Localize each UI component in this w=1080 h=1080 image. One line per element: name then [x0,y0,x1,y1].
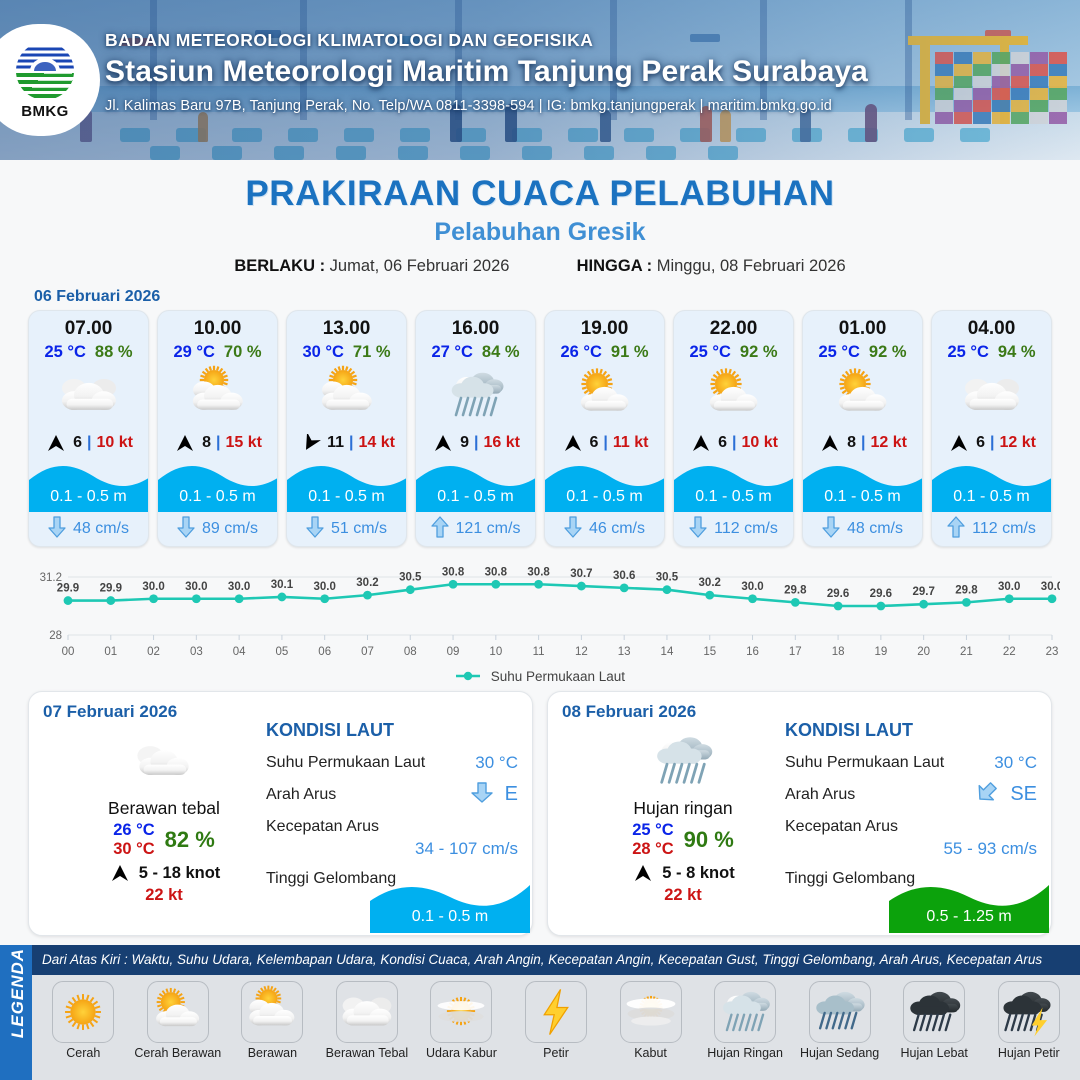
svg-text:30.0: 30.0 [142,581,164,593]
legend-icon-list: Cerah Cerah Berawan Berawan Berawan Teba… [32,975,1080,1080]
panel-sst-value: 30 °C [475,753,518,773]
svg-text:08: 08 [404,646,417,658]
panel-current-dir-label: Arah Arus [785,786,855,804]
card-wave-block: 0.1 - 0.5 m [932,460,1051,512]
card-temperature: 25 °C [44,343,85,362]
card-wind-direction: 6 [976,434,985,452]
card-weather-cloudy-icon [932,364,1051,426]
card-wind-direction: 6 [590,434,599,452]
svg-text:01: 01 [104,646,117,658]
card-time: 04.00 [932,311,1051,340]
card-current-speed: 121 cm/s [456,520,521,538]
legend-thunderstorm-icon [998,981,1060,1043]
panel-wind-row: 5 - 18 knot [69,864,259,883]
svg-text:07: 07 [361,646,374,658]
card-wind-direction: 6 [718,434,727,452]
svg-text:14: 14 [661,646,674,658]
svg-text:04: 04 [233,646,246,658]
chart-legend-label: Suhu Permukaan Laut [491,669,625,684]
valid-until-label: HINGGA : [577,257,652,275]
card-wind-separator: | [349,434,353,452]
wind-direction-arrow-icon [947,434,971,452]
svg-text:30.2: 30.2 [356,577,378,589]
legend-heavy-rain-icon [903,981,965,1043]
wind-direction-arrow-icon [631,864,655,882]
svg-text:30.0: 30.0 [998,581,1020,593]
page-subtitle: Pelabuhan Gresik [0,218,1080,247]
panel-sea-title: KONDISI LAUT [785,720,1037,741]
panel-sst-label: Suhu Permukaan Laut [266,754,425,772]
card-current-row: 112 cm/s [674,512,793,546]
legend-bar: LEGENDA Dari Atas Kiri : Waktu, Suhu Uda… [0,945,1080,1080]
current-direction-arrow-icon [822,516,840,543]
panel-weather-light-rain-icon [588,728,778,794]
panel-wave-block: 0.5 - 1.25 m [889,877,1049,933]
daily-forecast-panels: 07 Februari 2026 Berawan tebal26 °C30 °C… [0,685,1080,936]
card-wave-height: 0.1 - 0.5 m [803,488,922,506]
card-temp-humidity: 30 °C71 % [287,343,406,362]
svg-text:29.9: 29.9 [57,583,79,595]
chart-legend: Suhu Permukaan Laut [0,669,1080,685]
panel-current-speed-value: 34 - 107 cm/s [266,839,518,859]
card-wind-row: 11|14 kt [287,426,406,460]
panel-sst-label: Suhu Permukaan Laut [785,754,944,772]
card-temp-humidity: 25 °C94 % [932,343,1051,362]
hourly-card: 19.0026 °C91 % 6|11 kt0.1 - 0.5 m 46 cm/… [544,310,665,547]
card-humidity: 70 % [224,343,262,362]
panel-wind-row: 5 - 8 knot [588,864,778,883]
card-wind-speed: 14 kt [358,434,394,452]
svg-text:29.8: 29.8 [784,584,807,596]
agency-name: BADAN METEOROLOGI KLIMATOLOGI DAN GEOFIS… [105,30,1065,51]
svg-text:30.5: 30.5 [656,572,679,584]
svg-text:29.6: 29.6 [827,588,849,600]
panel-date: 07 Februari 2026 [43,702,518,722]
panel-weather-overcast-icon [69,728,259,794]
svg-text:29.8: 29.8 [955,584,978,596]
panel-temp-column: 26 °C30 °C [113,821,154,859]
legend-item: Cerah Berawan [131,981,226,1060]
svg-text:30.0: 30.0 [228,581,250,593]
svg-text:30.0: 30.0 [314,581,336,593]
legend-item-label: Hujan Petir [998,1046,1060,1060]
card-current-row: 89 cm/s [158,512,277,546]
card-humidity: 92 % [740,343,778,362]
card-current-speed: 48 cm/s [847,520,903,538]
svg-text:11: 11 [533,646,545,658]
page-title: PRAKIRAAN CUACA PELABUHAN [0,174,1080,214]
svg-text:23: 23 [1046,646,1059,658]
card-wind-separator: | [990,434,994,452]
header-text-block: BADAN METEOROLOGI KLIMATOLOGI DAN GEOFIS… [105,30,1065,114]
svg-text:13: 13 [618,646,631,658]
legend-item: Berawan [225,981,320,1060]
card-humidity: 94 % [998,343,1036,362]
legend-item-label: Kabut [634,1046,667,1060]
panel-temp-min: 26 °C [113,821,154,840]
current-direction-arrow-icon [177,516,195,543]
current-direction-arrow-icon [431,516,449,543]
hourly-date-row: 06 Februari 2026 [34,288,1080,306]
panel-current-speed-label: Kecepatan Arus [785,818,898,836]
hourly-card: 07.0025 °C88 % 6|10 kt0.1 - 0.5 m 48 cm/… [28,310,149,547]
card-wave-block: 0.1 - 0.5 m [416,460,535,512]
panel-date: 08 Februari 2026 [562,702,1037,722]
svg-text:05: 05 [276,646,289,658]
svg-text:20: 20 [917,646,930,658]
legend-item: Petir [509,981,604,1060]
current-direction-arrow-icon [947,516,965,543]
panel-wave-value: 0.5 - 1.25 m [889,908,1049,926]
card-time: 16.00 [416,311,535,340]
card-wave-height: 0.1 - 0.5 m [674,488,793,506]
card-wind-separator: | [861,434,865,452]
hourly-card: 04.0025 °C94 % 6|12 kt0.1 - 0.5 m 112 cm… [931,310,1052,547]
card-current-speed: 51 cm/s [331,520,387,538]
legend-item-label: Hujan Sedang [800,1046,879,1060]
panel-humidity: 90 % [684,827,734,853]
legend-item: Cerah [36,981,131,1060]
legend-item: Hujan Sedang [792,981,887,1060]
svg-text:30.8: 30.8 [527,566,550,578]
legend-note: Dari Atas Kiri : Waktu, Suhu Udara, Kele… [42,952,1074,967]
svg-text:18: 18 [832,646,845,658]
card-wave-block: 0.1 - 0.5 m [674,460,793,512]
wind-direction-arrow-icon [431,434,455,452]
card-time: 13.00 [287,311,406,340]
card-wind-row: 6|10 kt [29,426,148,460]
card-current-row: 112 cm/s [932,512,1051,546]
svg-text:30.8: 30.8 [485,566,508,578]
card-wind-direction: 8 [847,434,856,452]
panel-current-speed-value: 55 - 93 cm/s [785,839,1037,859]
wind-direction-arrow-icon [108,864,132,882]
valid-from: BERLAKU : Jumat, 06 Februari 2026 [234,257,509,276]
chart-legend-marker [455,670,481,685]
card-wind-direction: 11 [327,434,344,452]
panel-temp-min: 25 °C [632,821,673,840]
card-wind-separator: | [603,434,607,452]
panel-current-dir-value: E [505,783,518,806]
legend-fog-icon [620,981,682,1043]
legend-item-label: Petir [543,1046,569,1060]
panel-weather-summary: Berawan tebal26 °C30 °C82 % 5 - 18 knot2… [69,728,259,905]
card-current-row: 51 cm/s [287,512,406,546]
panel-temp-max: 30 °C [113,840,154,859]
svg-text:30.0: 30.0 [1041,581,1060,593]
daily-forecast-panel: 08 Februari 2026 Hujan ringan25 °C28 °C9… [547,691,1052,936]
svg-text:28: 28 [49,630,62,642]
valid-until-value: Minggu, 08 Februari 2026 [657,257,846,275]
card-current-speed: 46 cm/s [589,520,645,538]
card-wave-height: 0.1 - 0.5 m [545,488,664,506]
legend-item: Kabut [603,981,698,1060]
current-direction-arrow-icon [972,781,1002,808]
wind-direction-arrow-icon [298,434,322,452]
valid-until: HINGGA : Minggu, 08 Februari 2026 [577,257,846,276]
svg-text:29.9: 29.9 [100,583,122,595]
card-current-row: 121 cm/s [416,512,535,546]
panel-temperature-block: 25 °C28 °C90 % [588,821,778,859]
svg-text:30.8: 30.8 [442,566,465,578]
card-weather-mostly-sunny-icon [803,364,922,426]
daily-forecast-panel: 07 Februari 2026 Berawan tebal26 °C30 °C… [28,691,533,936]
card-wind-separator: | [87,434,91,452]
card-temperature: 27 °C [431,343,472,362]
hourly-card: 10.0029 °C70 % 8|15 kt0.1 - 0.5 m 89 cm/… [157,310,278,547]
card-temperature: 29 °C [173,343,214,362]
legend-item: Hujan Ringan [698,981,793,1060]
panel-sea-conditions: KONDISI LAUTSuhu Permukaan Laut30 °CArah… [785,720,1037,895]
card-wind-row: 8|15 kt [158,426,277,460]
card-current-row: 46 cm/s [545,512,664,546]
card-wind-speed: 11 kt [613,434,649,452]
card-wind-separator: | [732,434,736,452]
panel-temp-max: 28 °C [632,840,673,859]
wind-direction-arrow-icon [561,434,585,452]
card-weather-partly-cloudy-icon [287,364,406,426]
card-wind-speed: 12 kt [999,434,1035,452]
legend-item-label: Berawan Tebal [326,1046,408,1060]
panel-temperature-block: 26 °C30 °C82 % [69,821,259,859]
card-weather-mostly-sunny-icon [674,364,793,426]
wind-direction-arrow-icon [173,434,197,452]
wind-direction-arrow-icon [689,434,713,452]
legend-cloudy-icon [336,981,398,1043]
panel-current-speed-label: Kecepatan Arus [266,818,379,836]
svg-text:30.0: 30.0 [741,581,763,593]
panel-current-dir-row: Arah Arus E [266,779,518,811]
panel-sea-conditions: KONDISI LAUTSuhu Permukaan Laut30 °CArah… [266,720,518,895]
card-wave-block: 0.1 - 0.5 m [29,460,148,512]
legend-light-rain-icon [714,981,776,1043]
panel-current-dir-value: SE [1010,783,1037,806]
card-temperature: 25 °C [947,343,988,362]
sst-chart: 31.2280001020304050607080910111213141516… [20,555,1060,667]
card-time: 10.00 [158,311,277,340]
svg-text:21: 21 [960,646,973,658]
svg-text:00: 00 [62,646,75,658]
svg-text:06: 06 [318,646,331,658]
svg-text:16: 16 [746,646,759,658]
card-current-speed: 48 cm/s [73,520,129,538]
card-temperature: 30 °C [302,343,343,362]
svg-text:02: 02 [147,646,160,658]
card-wave-height: 0.1 - 0.5 m [932,488,1051,506]
card-weather-light-rain-icon [416,364,535,426]
valid-from-label: BERLAKU : [234,257,325,275]
svg-text:09: 09 [447,646,460,658]
card-current-speed: 112 cm/s [714,520,778,538]
card-wave-height: 0.1 - 0.5 m [158,488,277,506]
legend-item-label: Cerah Berawan [134,1046,221,1060]
legend-item-label: Udara Kabur [426,1046,497,1060]
card-temp-humidity: 25 °C92 % [674,343,793,362]
svg-text:17: 17 [789,646,802,658]
bmkg-logo-text: BMKG [21,103,68,120]
card-wind-separator: | [216,434,220,452]
card-time: 01.00 [803,311,922,340]
card-wind-direction: 6 [73,434,82,452]
panel-gust: 22 kt [69,886,259,905]
card-current-speed: 112 cm/s [972,520,1036,538]
svg-text:30.6: 30.6 [613,570,635,582]
panel-wind-speed: 5 - 18 knot [139,864,221,883]
card-wave-block: 0.1 - 0.5 m [158,460,277,512]
card-wind-speed: 12 kt [870,434,906,452]
card-wave-height: 0.1 - 0.5 m [416,488,535,506]
card-wind-separator: | [474,434,478,452]
svg-text:12: 12 [575,646,588,658]
card-temp-humidity: 25 °C88 % [29,343,148,362]
svg-text:29.6: 29.6 [870,588,892,600]
svg-text:19: 19 [874,646,887,658]
valid-from-value: Jumat, 06 Februari 2026 [330,257,510,275]
panel-humidity: 82 % [165,827,215,853]
card-humidity: 91 % [611,343,649,362]
panel-current-dir-label: Arah Arus [266,786,336,804]
hourly-card: 13.0030 °C71 % 11|14 kt0.1 - 0.5 m 51 cm… [286,310,407,547]
card-wind-speed: 10 kt [96,434,132,452]
card-temperature: 25 °C [818,343,859,362]
card-wave-block: 0.1 - 0.5 m [545,460,664,512]
legend-item: Udara Kabur [414,981,509,1060]
card-wind-row: 9|16 kt [416,426,535,460]
svg-text:10: 10 [489,646,502,658]
card-wind-row: 6|12 kt [932,426,1051,460]
svg-text:22: 22 [1003,646,1016,658]
svg-text:03: 03 [190,646,203,658]
card-temperature: 26 °C [560,343,601,362]
panel-wind-speed: 5 - 8 knot [662,864,734,883]
card-wind-speed: 15 kt [225,434,261,452]
card-wave-block: 0.1 - 0.5 m [287,460,406,512]
validity-row: BERLAKU : Jumat, 06 Februari 2026 HINGGA… [0,257,1080,276]
panel-sea-title: KONDISI LAUT [266,720,518,741]
svg-text:30.5: 30.5 [399,572,422,584]
current-direction-arrow-icon [48,516,66,543]
card-wind-row: 6|11 kt [545,426,664,460]
panel-wave-block: 0.1 - 0.5 m [370,877,530,933]
card-weather-cloudy-icon [29,364,148,426]
panel-wave-value: 0.1 - 0.5 m [370,908,530,926]
legend-item-label: Hujan Ringan [707,1046,783,1060]
page-header: BMKG BADAN METEOROLOGI KLIMATOLOGI DAN G… [0,0,1080,160]
svg-text:15: 15 [703,646,716,658]
panel-condition: Berawan tebal [69,798,259,819]
card-temp-humidity: 29 °C70 % [158,343,277,362]
legend-item: Hujan Petir [981,981,1076,1060]
legend-item-label: Hujan Lebat [900,1046,967,1060]
legend-partly-cloudy-icon [241,981,303,1043]
hourly-card: 01.0025 °C92 % 8|12 kt0.1 - 0.5 m 48 cm/… [802,310,923,547]
hourly-forecast-cards: 07.0025 °C88 % 6|10 kt0.1 - 0.5 m 48 cm/… [0,310,1080,547]
legend-item-label: Cerah [66,1046,100,1060]
card-weather-partly-cloudy-icon [158,364,277,426]
card-temp-humidity: 27 °C84 % [416,343,535,362]
wind-direction-arrow-icon [818,434,842,452]
svg-text:30.0: 30.0 [185,581,207,593]
card-temp-humidity: 25 °C92 % [803,343,922,362]
panel-current-dir-value-group: E [467,781,518,808]
panel-sst-row: Suhu Permukaan Laut30 °C [785,747,1037,779]
card-time: 19.00 [545,311,664,340]
hourly-card: 16.0027 °C84 % 9|16 kt0.1 - 0.5 m 121 cm… [415,310,536,547]
bmkg-logo-mark [14,40,76,102]
legend-moderate-rain-icon [809,981,871,1043]
legend-tab: LEGENDA [0,945,32,1080]
contact-info: Jl. Kalimas Baru 97B, Tanjung Perak, No.… [105,98,1065,114]
card-current-speed: 89 cm/s [202,520,258,538]
card-humidity: 84 % [482,343,520,362]
card-weather-mostly-sunny-icon [545,364,664,426]
svg-text:30.2: 30.2 [699,577,721,589]
card-wind-speed: 10 kt [741,434,777,452]
card-wind-row: 6|10 kt [674,426,793,460]
card-wind-direction: 8 [202,434,211,452]
current-direction-arrow-icon [467,781,497,808]
panel-gust: 22 kt [588,886,778,905]
panel-sst-value: 30 °C [994,753,1037,773]
card-humidity: 88 % [95,343,133,362]
legend-item-label: Berawan [248,1046,297,1060]
card-temp-humidity: 26 °C91 % [545,343,664,362]
title-block: PRAKIRAAN CUACA PELABUHAN Pelabuhan Gres… [0,174,1080,276]
panel-sst-row: Suhu Permukaan Laut30 °C [266,747,518,779]
card-wave-block: 0.1 - 0.5 m [803,460,922,512]
legend-tab-label: LEGENDA [8,945,28,1043]
card-current-row: 48 cm/s [29,512,148,546]
legend-mostly-sunny-icon [147,981,209,1043]
panel-weather-summary: Hujan ringan25 °C28 °C90 % 5 - 8 knot22 … [588,728,778,905]
hourly-date-label: 06 Februari 2026 [34,288,160,305]
card-humidity: 71 % [353,343,391,362]
legend-item: Hujan Lebat [887,981,982,1060]
card-wave-height: 0.1 - 0.5 m [287,488,406,506]
svg-text:29.7: 29.7 [912,586,934,598]
card-temperature: 25 °C [689,343,730,362]
legend-haze-icon [430,981,492,1043]
station-name: Stasiun Meteorologi Maritim Tanjung Pera… [105,55,1065,89]
hourly-card: 22.0025 °C92 % 6|10 kt0.1 - 0.5 m 112 cm… [673,310,794,547]
card-time: 07.00 [29,311,148,340]
card-current-row: 48 cm/s [803,512,922,546]
card-humidity: 92 % [869,343,907,362]
svg-text:30.7: 30.7 [570,568,592,580]
current-direction-arrow-icon [564,516,582,543]
legend-item: Berawan Tebal [320,981,415,1060]
card-wind-speed: 16 kt [483,434,519,452]
panel-current-dir-row: Arah Arus SE [785,779,1037,811]
panel-current-dir-value-group: SE [972,781,1037,808]
current-direction-arrow-icon [306,516,324,543]
svg-text:30.1: 30.1 [271,579,294,591]
current-direction-arrow-icon [689,516,707,543]
legend-sunny-icon [52,981,114,1043]
card-wind-direction: 9 [460,434,469,452]
wind-direction-arrow-icon [44,434,68,452]
card-wave-height: 0.1 - 0.5 m [29,488,148,506]
card-time: 22.00 [674,311,793,340]
panel-temp-column: 25 °C28 °C [632,821,673,859]
panel-condition: Hujan ringan [588,798,778,819]
legend-lightning-icon [525,981,587,1043]
card-wind-row: 8|12 kt [803,426,922,460]
